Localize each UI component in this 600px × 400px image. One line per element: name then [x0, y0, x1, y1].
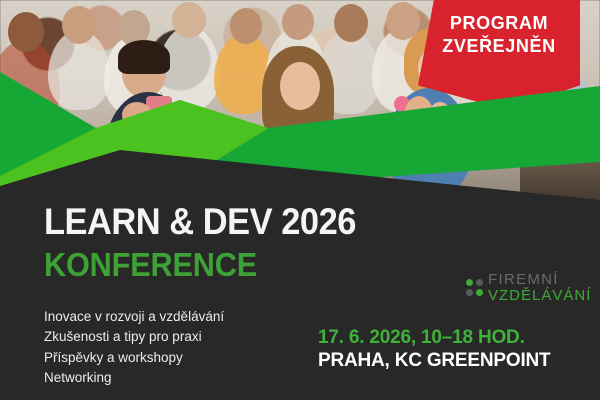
firemni-vzdelavani-logo: FIREMNÍ VZDĚLÁVÁNÍ — [466, 272, 591, 304]
page-title: LEARN & DEV 2026 — [44, 203, 356, 240]
event-date: 17. 6. 2026, 10–18 HOD. — [318, 326, 550, 349]
list-item: Networking — [44, 368, 224, 388]
topics-list: Inovace v rozvoji a vzdělávání Zkušenost… — [44, 307, 224, 388]
page-subtitle: KONFERENCE — [44, 248, 257, 281]
logo-wordmark: FIREMNÍ VZDĚLÁVÁNÍ — [488, 272, 591, 304]
list-item: Inovace v rozvoji a vzdělávání — [44, 307, 224, 327]
list-item: Příspěvky a workshopy — [44, 348, 224, 368]
four-dots-icon-dot — [466, 289, 473, 296]
poster-content: LEARN & DEV 2026 KONFERENCE Inovace v ro… — [0, 0, 600, 400]
four-dots-icon — [466, 279, 483, 296]
logo-line-2: VZDĚLÁVÁNÍ — [488, 288, 591, 304]
logo-line-1: FIREMNÍ — [488, 272, 591, 288]
four-dots-icon-dot — [476, 279, 483, 286]
four-dots-icon-dot — [466, 279, 473, 286]
event-location: PRAHA, KC GREENPOINT — [318, 349, 550, 372]
list-item: Zkušenosti a tipy pro praxi — [44, 327, 224, 347]
four-dots-icon-dot — [476, 289, 483, 296]
conference-poster: PROGRAM ZVEŘEJNĚN LEARN & DEV 2026 KONFE… — [0, 0, 600, 400]
event-details: 17. 6. 2026, 10–18 HOD. PRAHA, KC GREENP… — [318, 326, 550, 372]
